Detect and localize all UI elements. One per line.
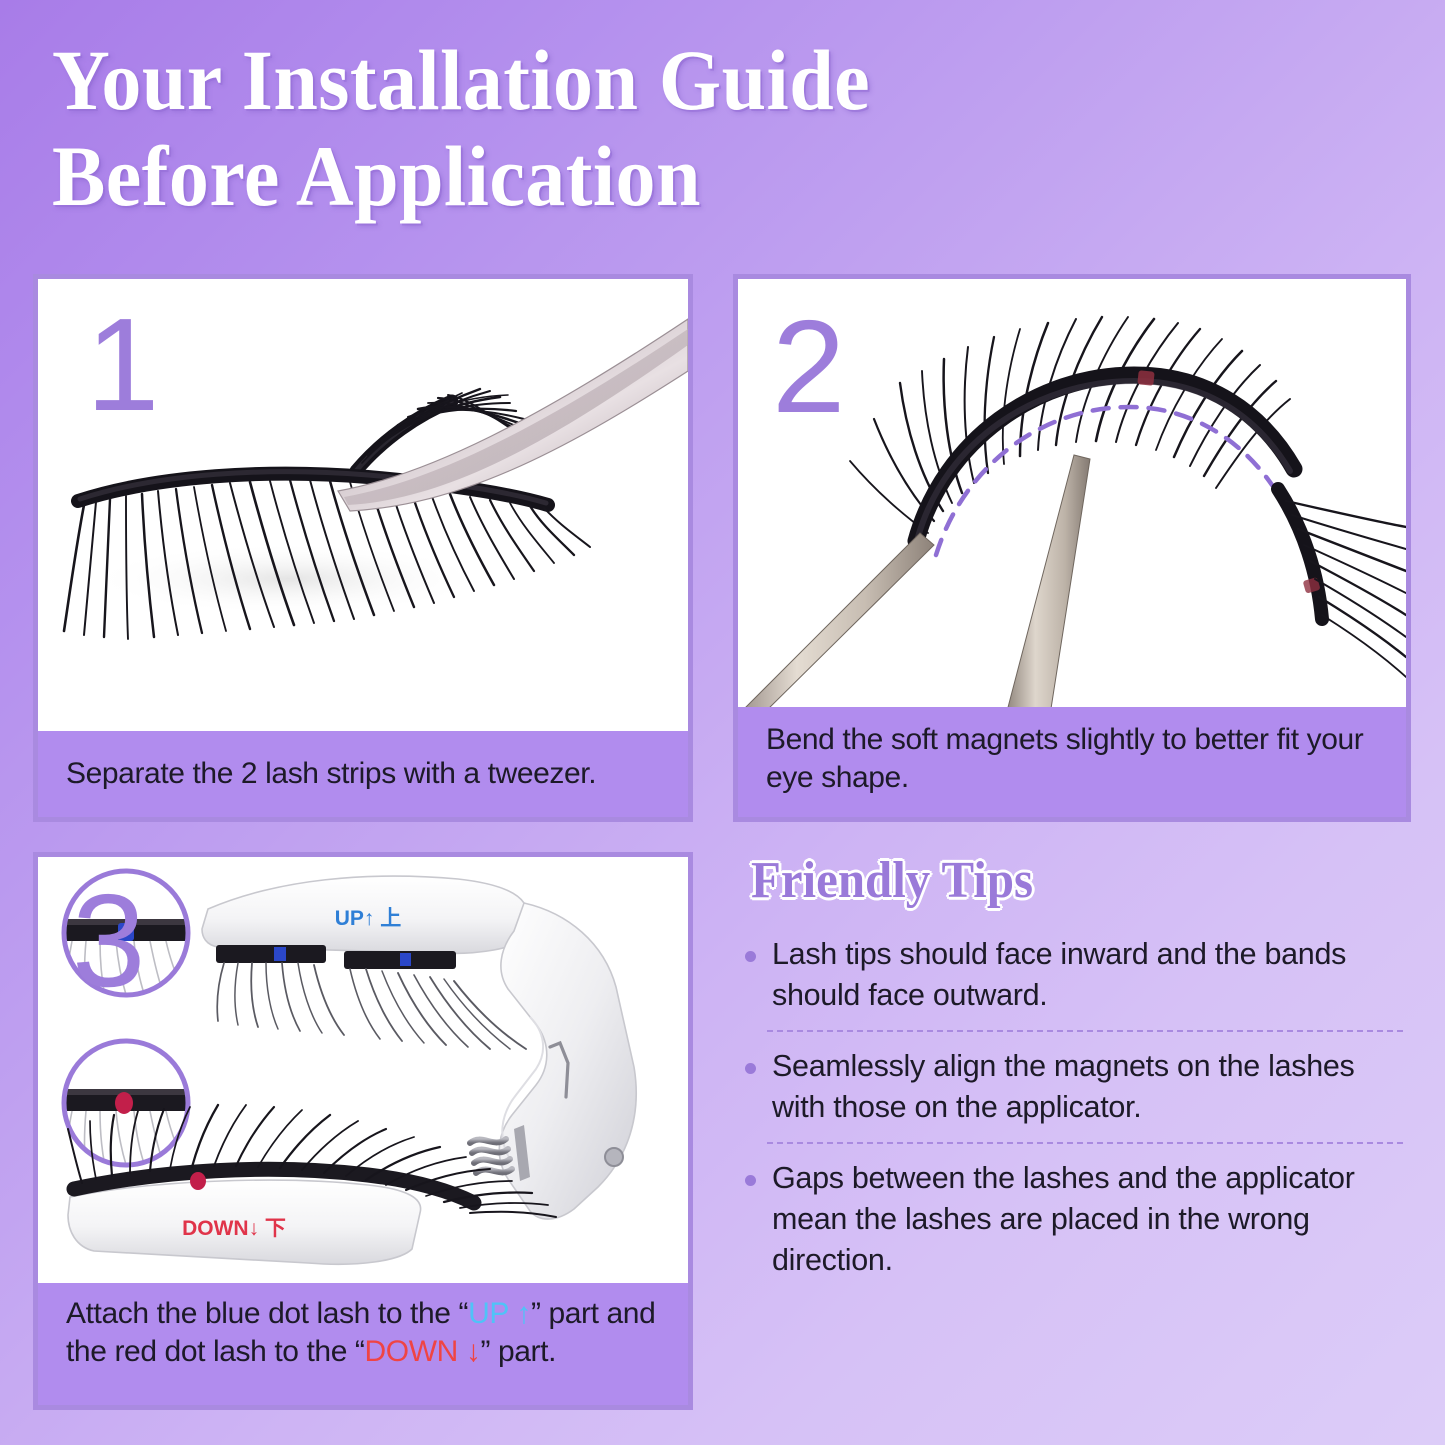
friendly-tips-heading: Friendly Tips bbox=[751, 852, 1371, 910]
tip-text-2: Seamlessly align the magnets on the lash… bbox=[772, 1046, 1403, 1128]
step-3-caption-part-1: Attach the blue dot lash to the “ bbox=[66, 1297, 468, 1330]
step-1-number: 1 bbox=[86, 299, 159, 431]
tip-divider-2 bbox=[767, 1142, 1403, 1144]
page-title-line-2: Before Application bbox=[52, 128, 1252, 224]
step-3-photo: 3 bbox=[38, 857, 688, 1283]
step-3-number: 3 bbox=[72, 875, 145, 1007]
step-1-caption: Separate the 2 lash strips with a tweeze… bbox=[38, 731, 688, 817]
step-card-2: 2 bbox=[733, 274, 1411, 822]
tip-item-2: Seamlessly align the magnets on the lash… bbox=[739, 1046, 1411, 1128]
tip-item-3: Gaps between the lashes and the applicat… bbox=[739, 1158, 1411, 1281]
step-1-photo: 1 bbox=[38, 279, 688, 731]
step-2-number: 2 bbox=[772, 301, 845, 433]
step-3-caption: Attach the blue dot lash to the “UP ↑” p… bbox=[38, 1283, 688, 1405]
bullet-icon bbox=[745, 1063, 756, 1074]
bullet-icon bbox=[745, 1175, 756, 1186]
tip-text-1: Lash tips should face inward and the ban… bbox=[772, 934, 1403, 1016]
step-card-1: 1 bbox=[33, 274, 693, 822]
step-3-caption-part-3: ” part. bbox=[480, 1335, 556, 1368]
step-card-3: 3 bbox=[33, 852, 693, 1410]
down-label-inline: DOWN ↓ bbox=[365, 1335, 481, 1368]
bullet-icon bbox=[745, 951, 756, 962]
applicator-up-label: UP↑ 上 bbox=[335, 907, 402, 930]
step-2-photo: 2 bbox=[738, 279, 1406, 707]
tip-divider-1 bbox=[767, 1030, 1403, 1032]
applicator-down-label: DOWN↓ 下 bbox=[182, 1217, 286, 1240]
page-title: Your Installation Guide Before Applicati… bbox=[52, 32, 1342, 224]
up-label-inline: UP ↑ bbox=[468, 1297, 531, 1330]
tip-text-3: Gaps between the lashes and the applicat… bbox=[772, 1158, 1403, 1281]
tip-item-1: Lash tips should face inward and the ban… bbox=[739, 934, 1411, 1016]
page-title-line-1: Your Installation Guide bbox=[52, 32, 1252, 128]
step-2-caption: Bend the soft magnets slightly to better… bbox=[738, 707, 1406, 817]
friendly-tips-panel: Friendly Tips Lash tips should face inwa… bbox=[733, 852, 1411, 1410]
